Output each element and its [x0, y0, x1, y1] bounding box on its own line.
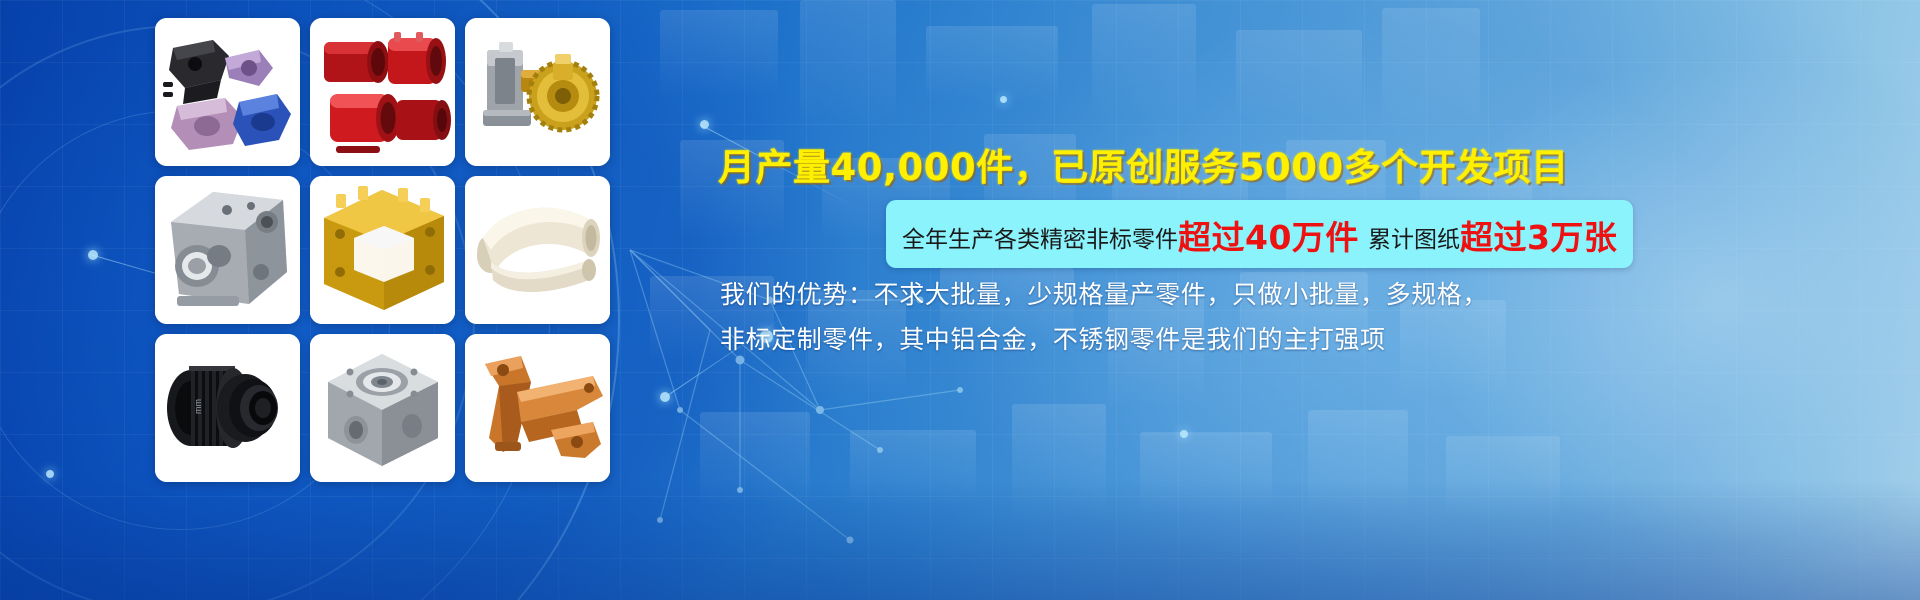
highlight-emphasis-one: 超过40万件 [1178, 211, 1359, 259]
banner-headline: 月产量40,000件，已原创服务5000多个开发项目 [718, 137, 1898, 191]
body-copy-line-2: 非标定制零件，其中铝合金，不锈钢零件是我们的主打强项 [720, 317, 1730, 362]
highlight-lead-text: 全年生产各类精密非标零件 [902, 220, 1178, 254]
product-tile-aluminum-gearbox-housing[interactable] [155, 176, 300, 324]
banner-body-copy: 我们的优势：不求大批量，少规格量产零件，只做小批量，多规格， 非标定制零件，其中… [720, 272, 1730, 362]
product-tile-white-plastic-curved-duct[interactable] [465, 176, 610, 324]
product-tile-gold-anodized-frame-plate[interactable] [310, 176, 455, 324]
highlight-band: 全年生产各类精密非标零件 超过40万件 累计图纸 超过3万张 [886, 200, 1633, 268]
product-tile-black-finned-optical-housing[interactable]: mm [155, 334, 300, 482]
highlight-middle-text: 累计图纸 [1368, 220, 1460, 254]
banner-copy-block: 月产量40,000件，已原创服务5000多个开发项目 全年生产各类精密非标零件 … [718, 0, 1898, 600]
product-tile-brass-worm-gear-shaft-assembly[interactable] [465, 18, 610, 166]
product-photo-grid: mm [155, 18, 610, 482]
product-tile-copper-machined-support-arm[interactable] [465, 334, 610, 482]
product-tile-red-anodized-cylinder-housings[interactable] [310, 18, 455, 166]
product-tile-stainless-cube-valve-block[interactable] [310, 334, 455, 482]
svg-text:mm: mm [193, 399, 203, 414]
body-copy-line-1: 我们的优势：不求大批量，少规格量产零件，只做小批量，多规格， [720, 272, 1730, 317]
promo-banner: mm [0, 0, 1920, 600]
accent-dot [46, 470, 54, 478]
product-tile-machined-brackets-black-purple-blue[interactable] [155, 18, 300, 166]
highlight-emphasis-two: 超过3万张 [1460, 211, 1617, 259]
